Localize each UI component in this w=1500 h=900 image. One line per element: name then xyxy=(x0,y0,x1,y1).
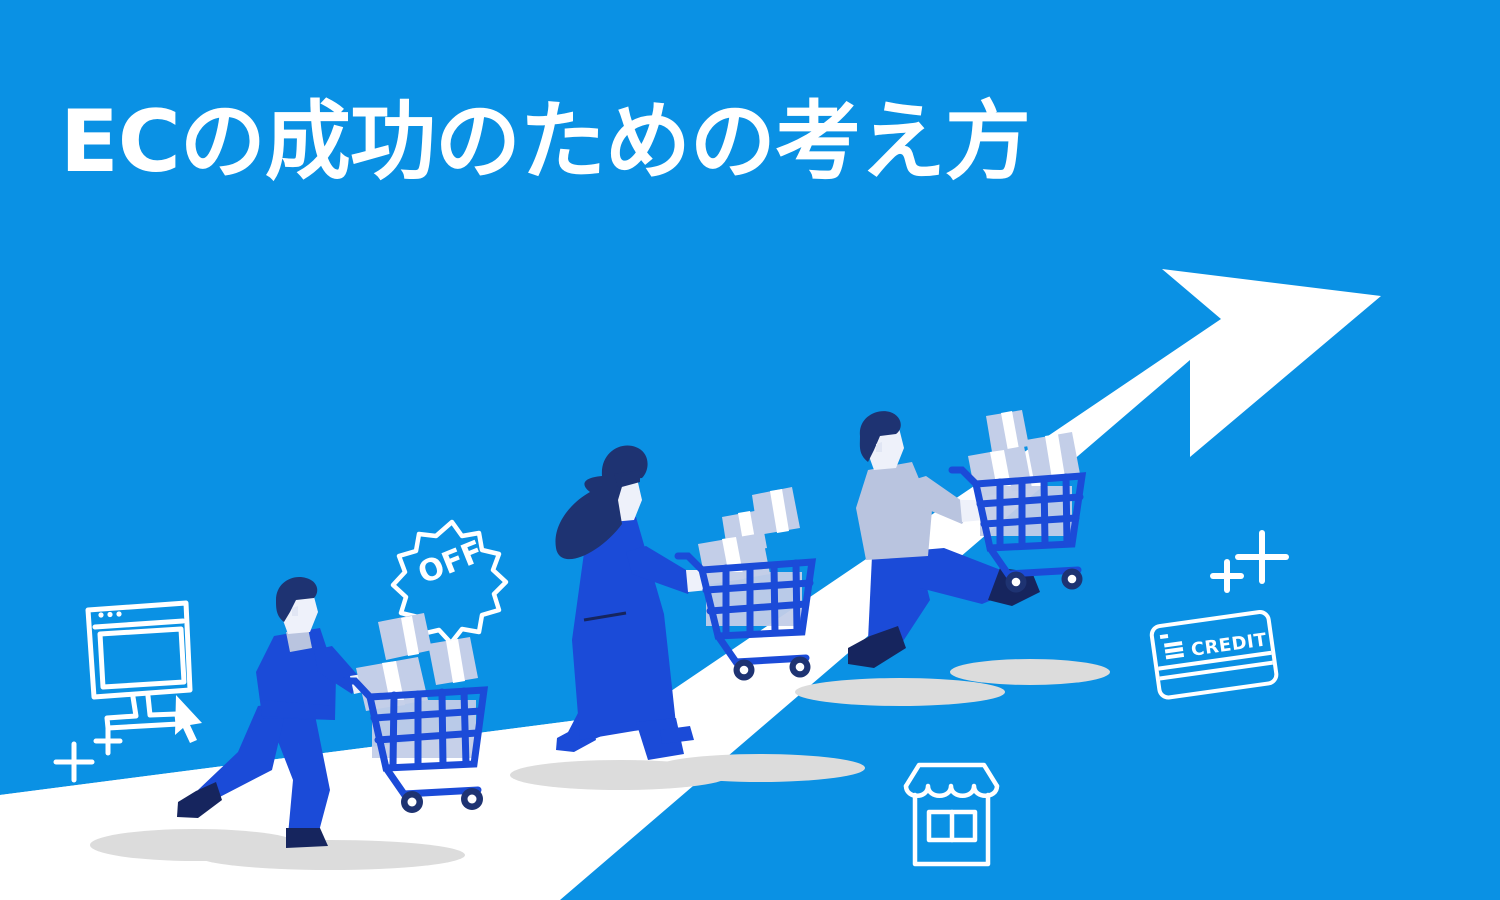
cart-contents xyxy=(706,572,802,626)
cart-contents xyxy=(980,486,1072,536)
illustration-scene: OFF CREDIT xyxy=(0,0,1500,900)
hero-banner: OFF CREDIT xyxy=(0,0,1500,900)
cart-contents xyxy=(372,700,476,758)
